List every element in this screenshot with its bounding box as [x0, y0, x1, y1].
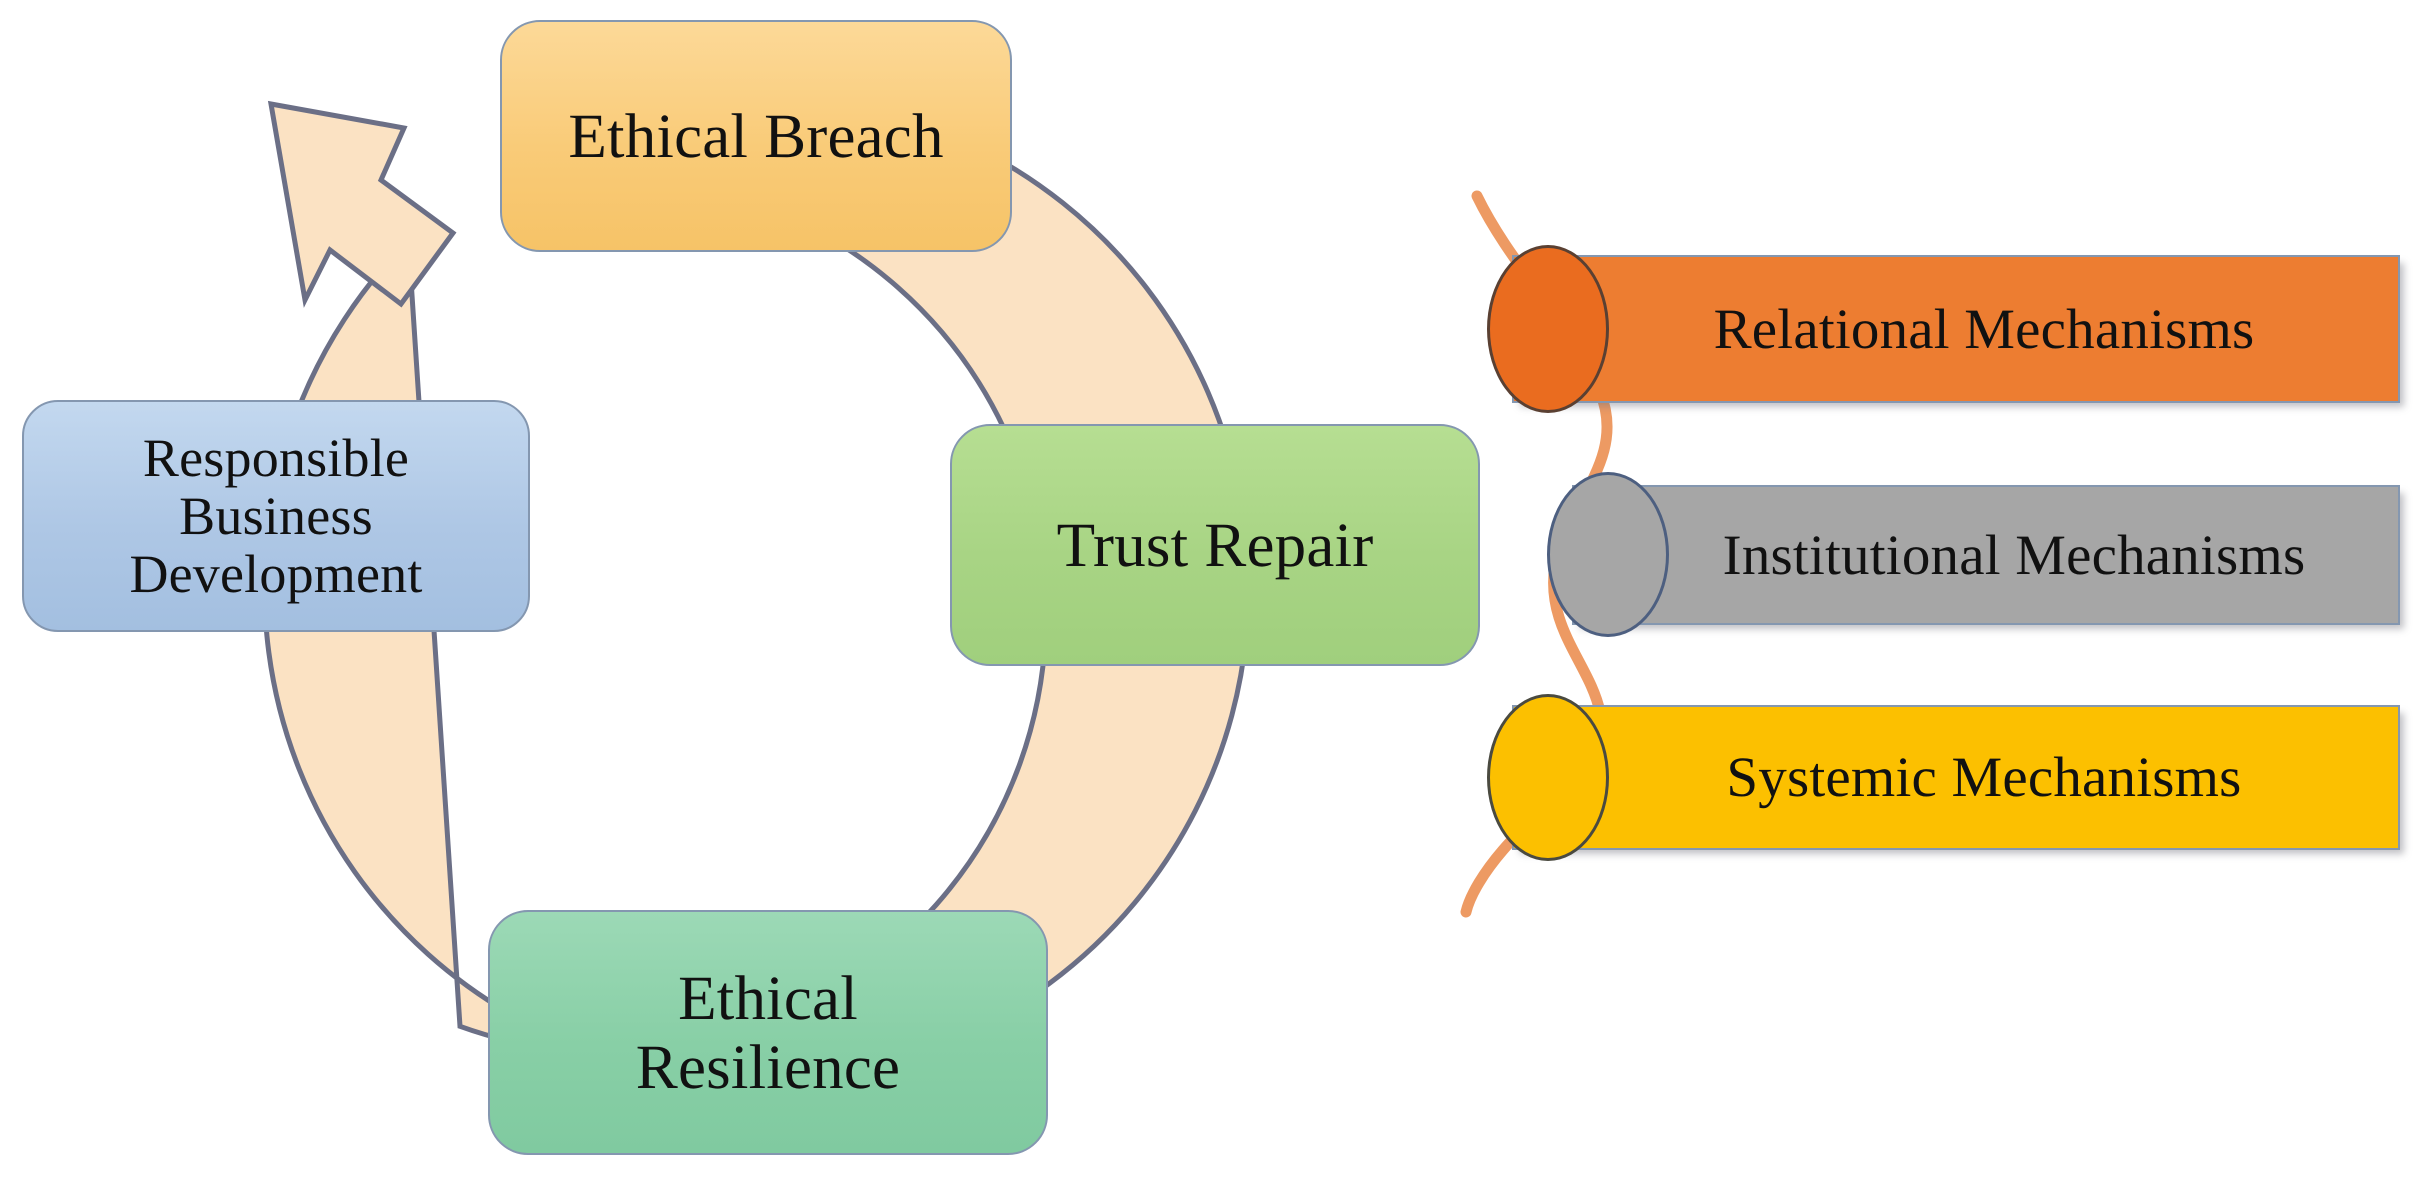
- mechanism-cap-relational-icon: [1487, 245, 1609, 413]
- mechanism-bar-institutional[interactable]: Institutional Mechanisms: [1572, 485, 2400, 625]
- mechanism-bar-systemic[interactable]: Systemic Mechanisms: [1512, 705, 2400, 850]
- mechanism-label-relational: Relational Mechanisms: [1658, 297, 2255, 362]
- mechanism-cap-systemic-icon: [1487, 694, 1609, 861]
- mechanism-label-institutional: Institutional Mechanisms: [1667, 523, 2306, 588]
- mechanism-label-systemic: Systemic Mechanisms: [1670, 745, 2241, 810]
- diagram-canvas: Ethical Breach Responsible Business Deve…: [0, 0, 2420, 1179]
- mechanism-cap-institutional-icon: [1547, 472, 1669, 637]
- mechanism-bar-relational[interactable]: Relational Mechanisms: [1512, 255, 2400, 403]
